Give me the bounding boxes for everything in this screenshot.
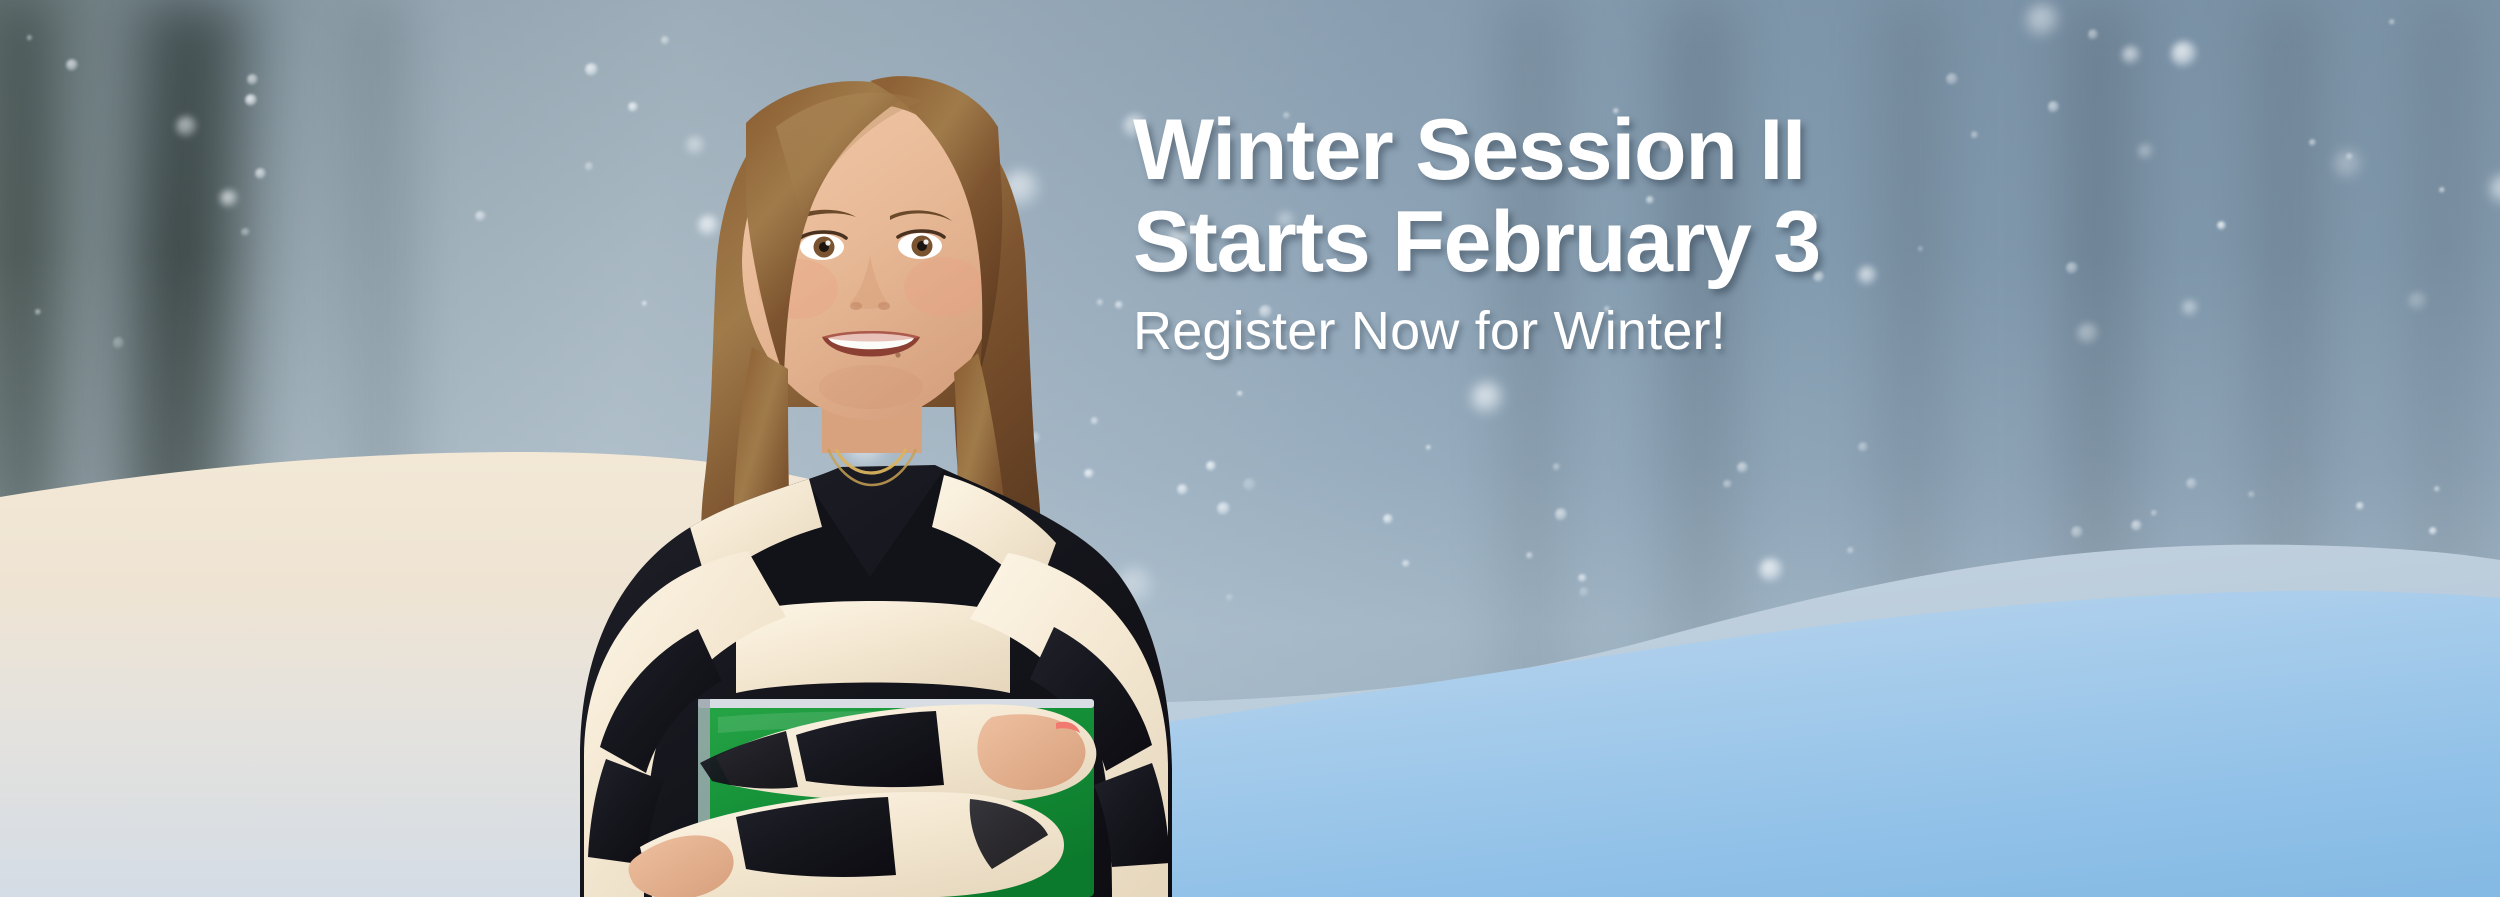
banner-subheadline: Register Now for Winter!	[1133, 302, 2113, 361]
headline-line-2: Starts February 3	[1133, 196, 2113, 288]
banner-copy: Winter Session II Starts February 3 Regi…	[1133, 104, 2113, 361]
banner-headline: Winter Session II Starts February 3	[1133, 104, 2113, 288]
sweater	[540, 437, 1200, 897]
headline-line-1: Winter Session II	[1133, 102, 1805, 198]
student-photo	[540, 57, 1200, 897]
winter-session-hero-banner: Winter Session II Starts February 3 Regi…	[0, 0, 2500, 897]
